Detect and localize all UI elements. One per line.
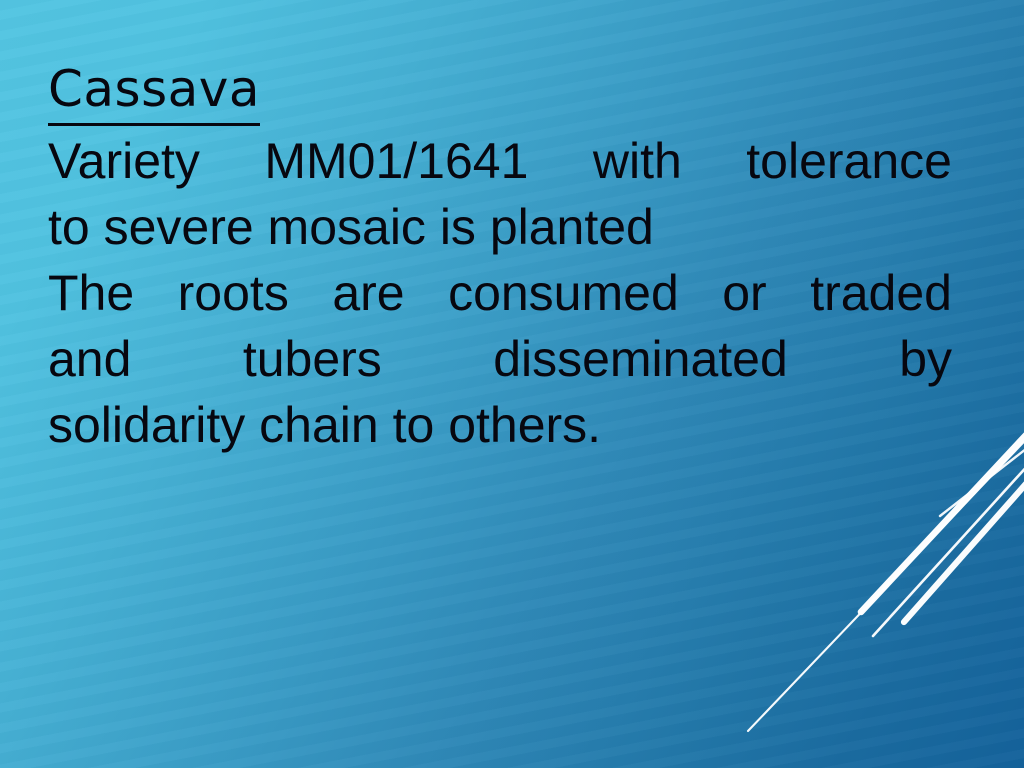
accent-line-5 bbox=[940, 438, 1024, 516]
word: tubers bbox=[243, 326, 382, 392]
word: MM01/1641 bbox=[264, 128, 528, 194]
heading-wrap: Cassava bbox=[48, 56, 952, 128]
accent-line-2 bbox=[904, 468, 1024, 622]
word: disseminated bbox=[493, 326, 788, 392]
word: roots bbox=[178, 260, 289, 326]
word: by bbox=[899, 326, 952, 392]
word: The bbox=[48, 260, 134, 326]
word: traded bbox=[810, 260, 952, 326]
body-line: to severe mosaic is planted bbox=[48, 194, 952, 260]
word: with bbox=[593, 128, 682, 194]
accent-line-1 bbox=[748, 425, 1024, 731]
slide-canvas: Cassava Variety MM01/1641 with tolerance… bbox=[0, 0, 1024, 768]
word: consumed bbox=[448, 260, 679, 326]
word: or bbox=[722, 260, 766, 326]
body-line: The roots are consumed or traded bbox=[48, 260, 952, 326]
accent-line-4 bbox=[873, 452, 1024, 636]
word: Variety bbox=[48, 128, 200, 194]
body-line: and tubers disseminated by bbox=[48, 326, 952, 392]
slide-text-block: Cassava Variety MM01/1641 with tolerance… bbox=[48, 56, 952, 458]
word: tolerance bbox=[746, 128, 952, 194]
word: are bbox=[332, 260, 404, 326]
word: and bbox=[48, 326, 131, 392]
body-line: Variety MM01/1641 with tolerance bbox=[48, 128, 952, 194]
body-line: solidarity chain to others. bbox=[48, 392, 952, 458]
page-title: Cassava bbox=[48, 56, 260, 126]
